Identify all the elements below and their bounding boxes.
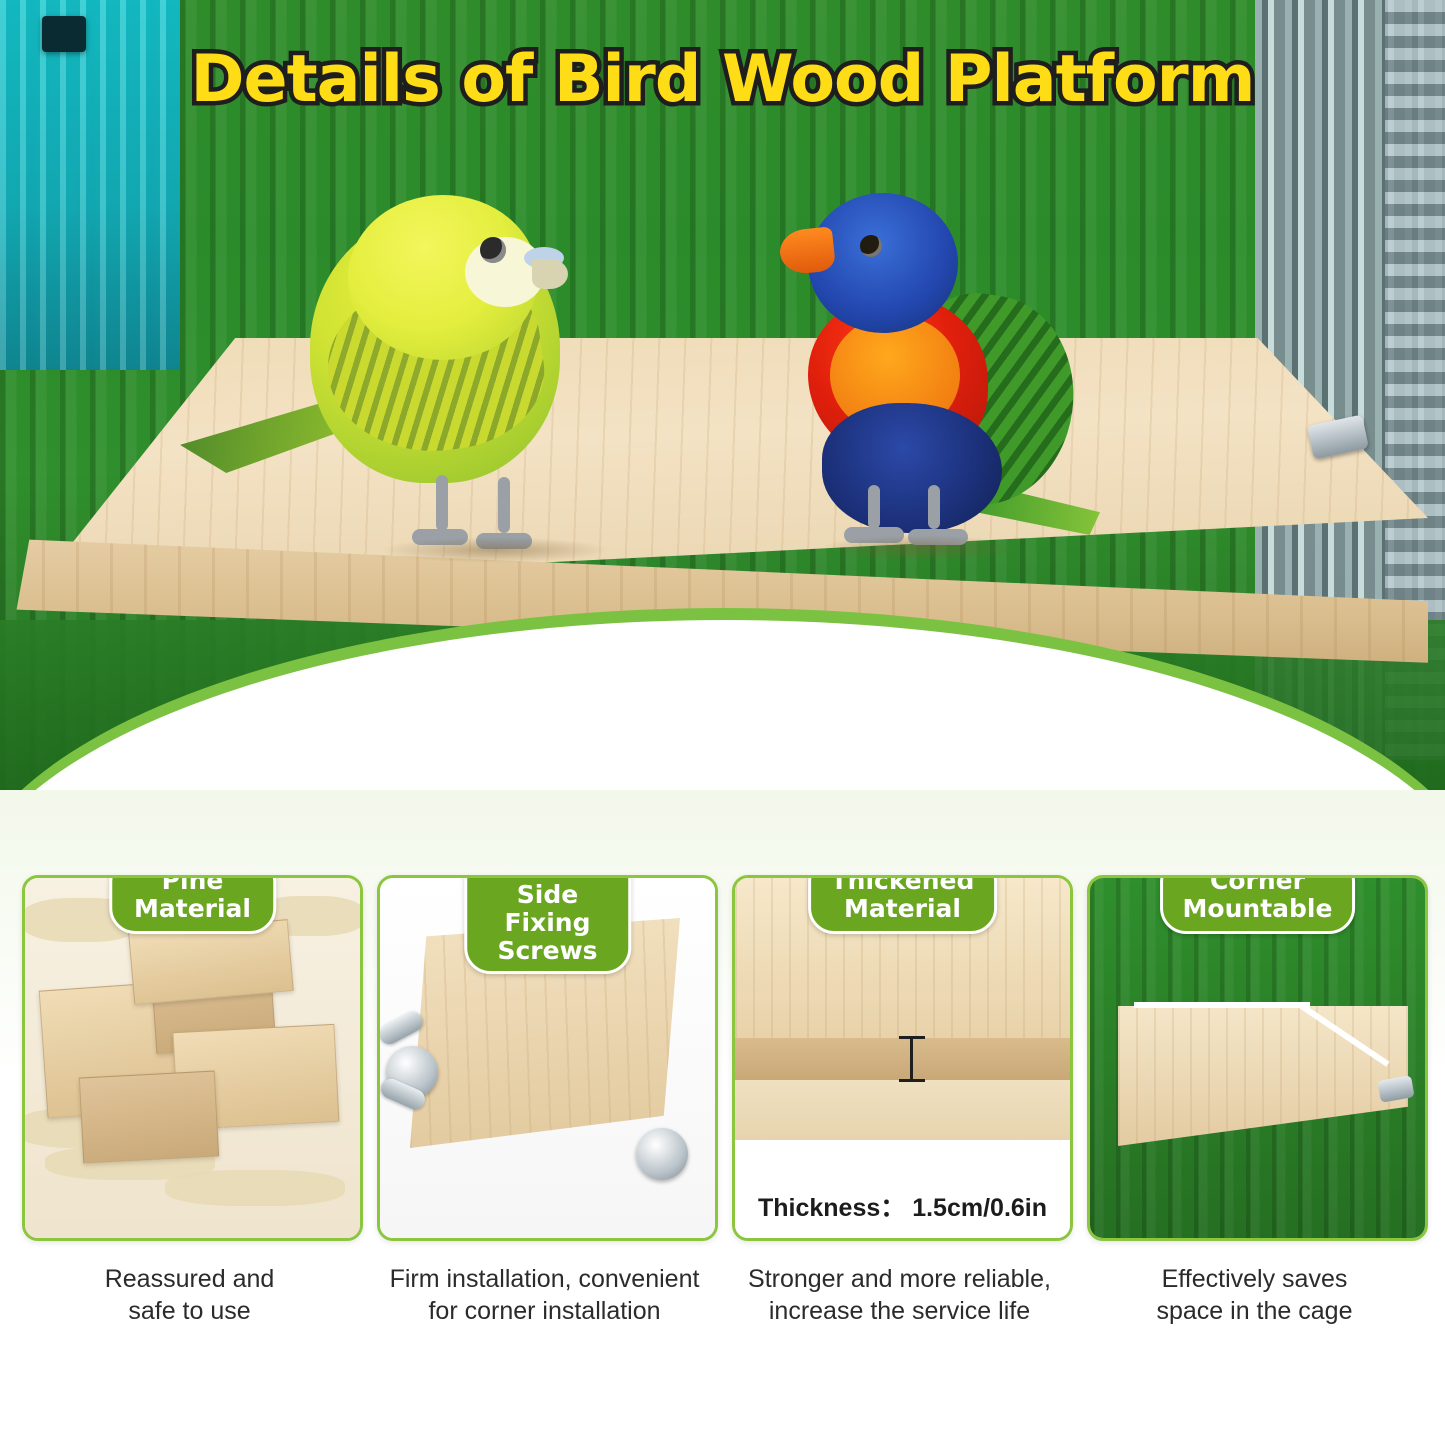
thickness-arrow-cap-top — [899, 1036, 925, 1039]
card-badge: Increase Side Fixing Screws — [464, 875, 632, 974]
product-infographic: Details of Bird Wood Platform — [0, 0, 1445, 1445]
budgerigar-shadow — [380, 537, 610, 563]
rainbow-lorikeet — [760, 185, 1080, 560]
budgerigar-leg-left — [436, 475, 448, 531]
card-frame: Corner Mountable — [1087, 875, 1428, 1241]
budgerigar-eye — [480, 237, 506, 263]
features-section: Pine Material Reassured and safe to use … — [0, 790, 1445, 1445]
guide-line-top — [1134, 1002, 1310, 1008]
budgerigar-leg-right — [498, 477, 510, 533]
card-frame: Increase Side Fixing Screws — [377, 875, 718, 1241]
budgerigar-beak — [532, 259, 568, 289]
card-frame: Pine Material — [22, 875, 363, 1241]
lorikeet-eye — [860, 235, 882, 257]
lorikeet-beak — [778, 226, 836, 275]
thickness-arrow-cap-bottom — [899, 1079, 925, 1082]
lorikeet-shadow — [820, 535, 1020, 561]
board-thickness-edge — [735, 1038, 1070, 1080]
card-frame: Thickness： 1.5cm/0.6in Thickened Materia… — [732, 875, 1073, 1241]
card-badge: Corner Mountable — [1160, 875, 1356, 934]
feature-card-pine-material: Pine Material Reassured and safe to use — [22, 875, 357, 1327]
feature-card-thickened-material: Thickness： 1.5cm/0.6in Thickened Materia… — [732, 875, 1067, 1327]
budgerigar — [180, 185, 650, 565]
page-title: Details of Bird Wood Platform — [0, 42, 1445, 117]
corner-mount-screw — [1377, 1075, 1414, 1103]
card-caption: Stronger and more reliable, increase the… — [732, 1263, 1067, 1327]
screw-head-right — [636, 1128, 688, 1180]
hero-section: Details of Bird Wood Platform — [0, 0, 1445, 790]
feature-card-list: Pine Material Reassured and safe to use … — [22, 875, 1422, 1327]
card-badge: Pine Material — [109, 875, 277, 934]
board-under-surface — [735, 1080, 1070, 1140]
lorikeet-leg-left — [868, 485, 880, 529]
thickness-label: Thickness： 1.5cm/0.6in — [735, 1188, 1070, 1224]
lorikeet-belly — [822, 403, 1002, 533]
card-badge: Thickened Material — [808, 875, 998, 934]
card-caption: Reassured and safe to use — [22, 1263, 357, 1327]
feature-card-corner-mountable: Corner Mountable Effectively saves space… — [1087, 875, 1422, 1327]
card-caption: Firm installation, convenient for corner… — [377, 1263, 712, 1327]
thickness-arrow — [910, 1036, 913, 1082]
feature-card-side-fixing-screws: Increase Side Fixing Screws Firm install… — [377, 875, 712, 1327]
corner-board — [1118, 1006, 1408, 1146]
card-caption: Effectively saves space in the cage — [1087, 1263, 1422, 1327]
lorikeet-leg-right — [928, 485, 940, 529]
